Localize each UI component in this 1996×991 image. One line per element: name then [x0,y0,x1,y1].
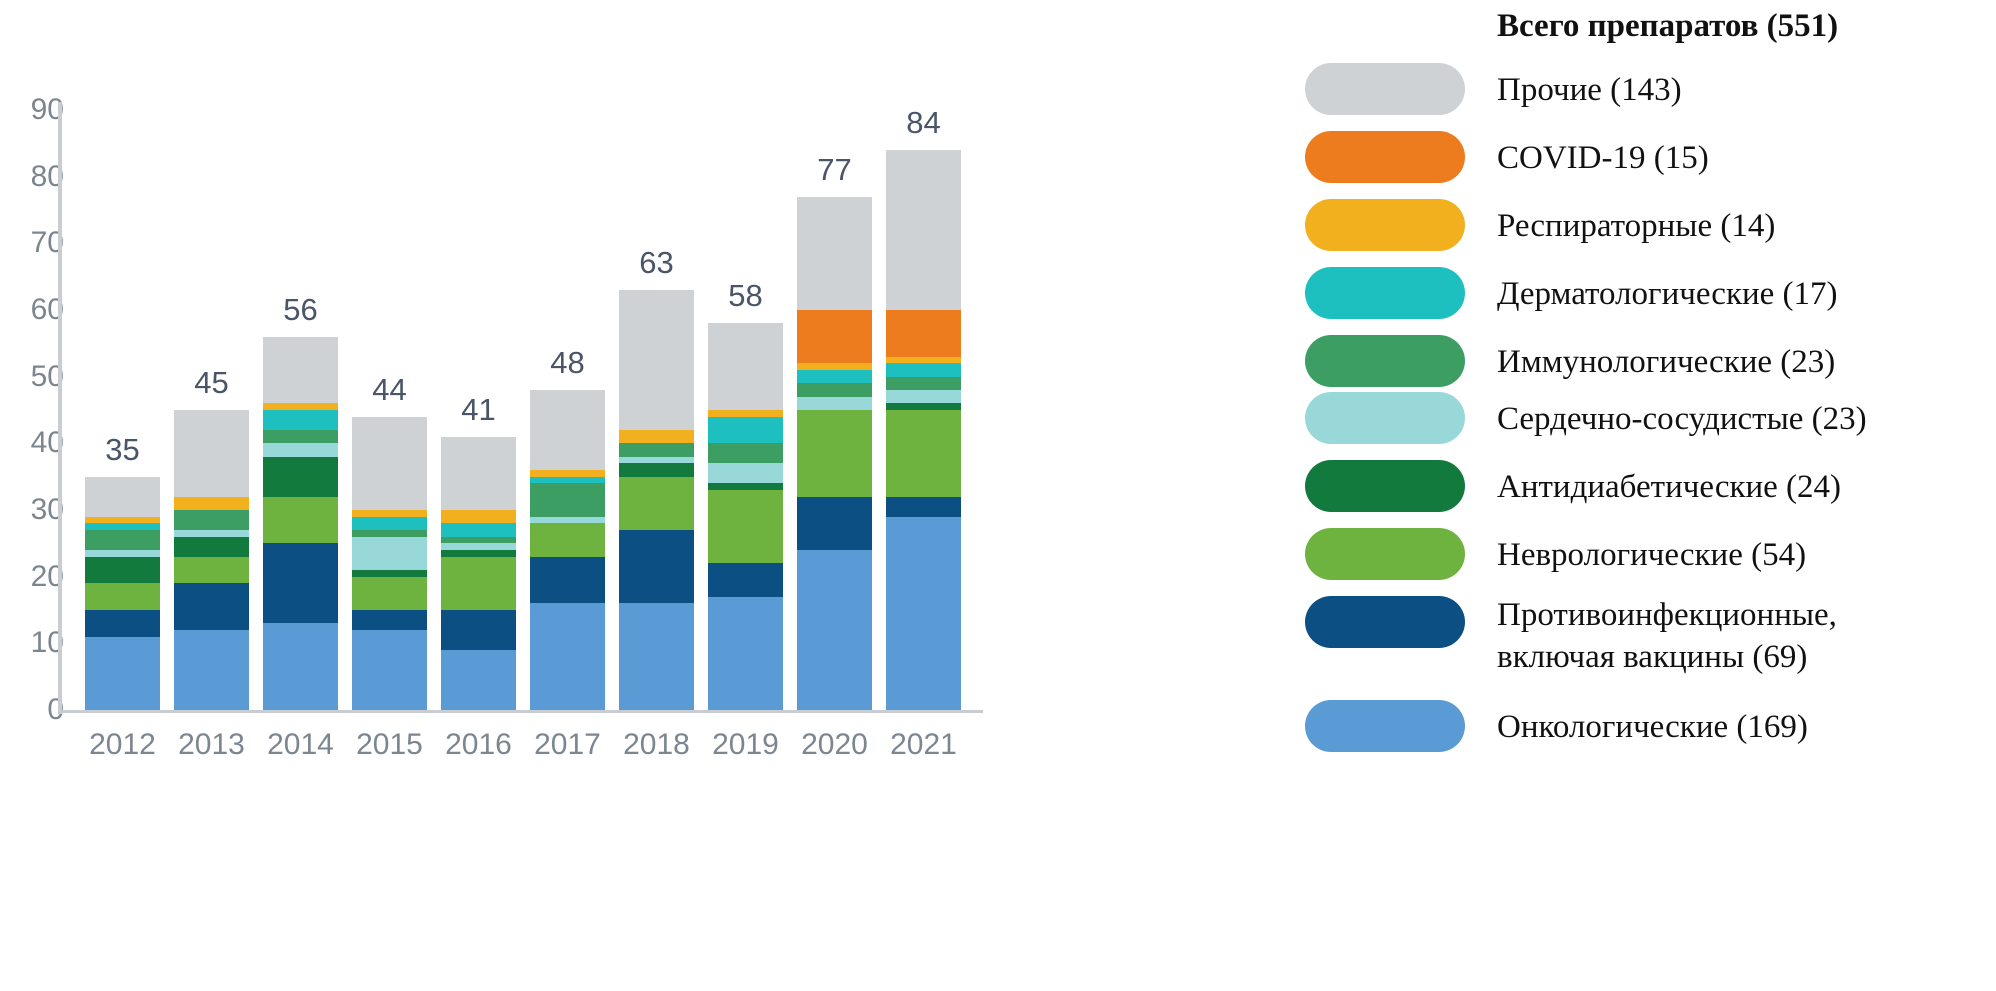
bar-segment[interactable] [530,483,605,516]
y-axis-tick-70: 70 [4,228,64,258]
legend-label-line1: Антидиабетические (24) [1497,469,1841,505]
y-axis-tick-20: 20 [4,562,64,592]
bar-segment[interactable] [85,550,160,557]
bar-segment[interactable] [263,543,338,623]
bar-group: 632018 [619,0,694,991]
y-axis-tick-60: 60 [4,295,64,325]
bar-segment[interactable] [619,457,694,464]
bar-segment[interactable] [886,403,961,410]
stacked-bar[interactable] [174,410,249,710]
bar-segment[interactable] [797,383,872,396]
bar-segment[interactable] [174,410,249,497]
legend-item-label: Антидиабетические (24) [1497,466,1841,508]
stacked-bar[interactable] [619,290,694,710]
bar-segment[interactable] [85,477,160,517]
stacked-bar-chart: 9080706050403020100 35201245201356201444… [0,0,1270,991]
bar-group: 412016 [441,0,516,991]
y-axis-tick-0: 0 [4,695,64,725]
bar-group: 452013 [174,0,249,991]
bar-group: 772020 [797,0,872,991]
legend-item-label: Иммунологические (23) [1497,341,1835,383]
bar-segment[interactable] [797,197,872,310]
legend-swatch [1305,528,1465,580]
bar-total-label: 45 [142,367,282,398]
bar-segment[interactable] [174,530,249,537]
legend-label-line1: Иммунологические (23) [1497,344,1835,380]
bar-group: 842021 [886,0,961,991]
bar-group: 352012 [85,0,160,991]
bar-segment[interactable] [886,497,961,517]
bar-segment[interactable] [174,557,249,584]
legend-item-label: Неврологические (54) [1497,534,1806,576]
bar-segment[interactable] [263,430,338,443]
legend-item-label: Сердечно-сосудистые (23) [1497,398,1867,440]
bar-segment[interactable] [352,537,427,570]
bar-segment[interactable] [886,310,961,357]
legend-label-line2: включая вакцины (69) [1497,636,1837,678]
bar-segment[interactable] [352,570,427,577]
bar-segment[interactable] [85,610,160,637]
legend-swatch [1305,460,1465,512]
bar-segment[interactable] [797,410,872,497]
y-axis-tick-80: 80 [4,162,64,192]
bar-total-label: 35 [53,434,193,465]
bar-segment[interactable] [797,550,872,710]
legend-swatch [1305,335,1465,387]
bar-segment[interactable] [441,610,516,650]
bar-segment[interactable] [174,497,249,510]
legend-title: Всего препаратов (551) [1497,8,1838,45]
bar-segment[interactable] [708,443,783,463]
bar-segment[interactable] [174,630,249,710]
legend-label-line1: Сердечно-сосудистые (23) [1497,401,1867,437]
chart-legend: Всего препаратов (551) Прочие (143)COVID… [1285,0,1996,991]
bar-segment[interactable] [174,537,249,557]
bar-segment[interactable] [886,390,961,403]
legend-label-line1: Онкологические (169) [1497,709,1808,745]
bar-segment[interactable] [263,410,338,430]
stacked-bar[interactable] [352,417,427,710]
bar-segment[interactable] [619,430,694,443]
bar-segment[interactable] [441,537,516,544]
y-axis-tick-50: 50 [4,362,64,392]
stacked-bar[interactable] [441,437,516,710]
legend-item-label: Дерматологические (17) [1497,273,1838,315]
bar-group: 482017 [530,0,605,991]
stacked-bar[interactable] [886,150,961,710]
bar-segment[interactable] [886,377,961,390]
bar-segment[interactable] [619,463,694,476]
bar-segment[interactable] [352,577,427,610]
stacked-bar[interactable] [530,390,605,710]
bar-segment[interactable] [797,363,872,370]
bar-group: 562014 [263,0,338,991]
bar-segment[interactable] [708,483,783,490]
y-axis-tick-30: 30 [4,495,64,525]
bar-segment[interactable] [797,310,872,363]
bar-segment[interactable] [708,410,783,417]
bar-segment[interactable] [441,557,516,610]
legend-item-label: Противоинфекционные,включая вакцины (69) [1497,594,1837,678]
x-axis-label-2021: 2021 [844,730,1004,760]
chart-page: 9080706050403020100 35201245201356201444… [0,0,1996,991]
bar-group: 442015 [352,0,427,991]
y-axis-tick-10: 10 [4,628,64,658]
bar-segment[interactable] [263,457,338,497]
bar-segment[interactable] [708,417,783,444]
bar-segment[interactable] [352,610,427,630]
bar-total-label: 48 [498,347,638,378]
legend-label-line1: Прочие (143) [1497,72,1682,108]
legend-item-label: Онкологические (169) [1497,706,1808,748]
bar-group: 582019 [708,0,783,991]
bar-segment[interactable] [352,517,427,530]
legend-swatch [1305,199,1465,251]
bar-segment[interactable] [441,650,516,710]
y-axis-tick-labels: 9080706050403020100 [0,0,64,991]
stacked-bar[interactable] [797,197,872,710]
bar-segment[interactable] [85,530,160,550]
bar-segment[interactable] [619,603,694,710]
bar-total-label: 58 [676,280,816,311]
legend-label-line1: Респираторные (14) [1497,208,1775,244]
y-axis-line [58,102,62,714]
bar-segment[interactable] [797,397,872,410]
bar-segment[interactable] [263,497,338,544]
bar-segment[interactable] [619,443,694,456]
legend-swatch [1305,596,1465,648]
bar-segment[interactable] [174,583,249,630]
legend-swatch [1305,392,1465,444]
bar-segment[interactable] [85,637,160,710]
legend-label-line1: Дерматологические (17) [1497,276,1838,312]
bar-segment[interactable] [441,437,516,510]
bar-segment[interactable] [85,523,160,530]
legend-item-label: COVID-19 (15) [1497,137,1709,179]
bar-segment[interactable] [619,530,694,603]
bar-segment[interactable] [530,557,605,604]
bar-segment[interactable] [352,530,427,537]
bar-segment[interactable] [441,523,516,536]
bar-segment[interactable] [708,490,783,563]
bar-segment[interactable] [708,323,783,410]
bar-segment[interactable] [85,583,160,610]
bar-total-label: 41 [409,394,549,425]
bar-segment[interactable] [886,363,961,376]
legend-swatch [1305,700,1465,752]
bar-segment[interactable] [886,357,961,364]
bar-segment[interactable] [530,470,605,477]
bar-segment[interactable] [85,557,160,584]
bar-segment[interactable] [530,390,605,470]
legend-swatch [1305,131,1465,183]
stacked-bar[interactable] [85,477,160,710]
bar-segment[interactable] [797,497,872,550]
legend-swatch [1305,63,1465,115]
bar-segment[interactable] [263,443,338,456]
bar-segment[interactable] [441,510,516,523]
bar-segment[interactable] [886,517,961,710]
bar-segment[interactable] [530,603,605,710]
legend-item-label: Респираторные (14) [1497,205,1775,247]
bar-segment[interactable] [352,417,427,510]
bar-segment[interactable] [352,510,427,517]
bar-segment[interactable] [797,370,872,383]
bar-segment[interactable] [530,517,605,524]
legend-label-line1: Противоинфекционные, [1497,597,1837,633]
legend-swatch [1305,267,1465,319]
bar-total-label: 63 [587,247,727,278]
legend-label-line1: COVID-19 (15) [1497,140,1709,176]
legend-item-label: Прочие (143) [1497,69,1682,111]
stacked-bar[interactable] [708,323,783,710]
bar-segment[interactable] [263,623,338,710]
bar-segment[interactable] [174,510,249,530]
bar-segment[interactable] [530,477,605,484]
legend-label-line1: Неврологические (54) [1497,537,1806,573]
bar-total-label: 84 [854,107,994,138]
bar-segment[interactable] [441,543,516,550]
y-axis-tick-90: 90 [4,95,64,125]
bar-segment[interactable] [708,463,783,483]
bar-segment[interactable] [708,563,783,596]
bar-segment[interactable] [619,477,694,530]
bar-segment[interactable] [708,597,783,710]
bar-total-label: 77 [765,154,905,185]
bar-segment[interactable] [441,550,516,557]
bar-total-label: 56 [231,294,371,325]
bar-segment[interactable] [886,410,961,497]
bar-segment[interactable] [352,630,427,710]
bar-segment[interactable] [886,150,961,310]
bar-segment[interactable] [85,517,160,524]
bar-segment[interactable] [530,523,605,556]
